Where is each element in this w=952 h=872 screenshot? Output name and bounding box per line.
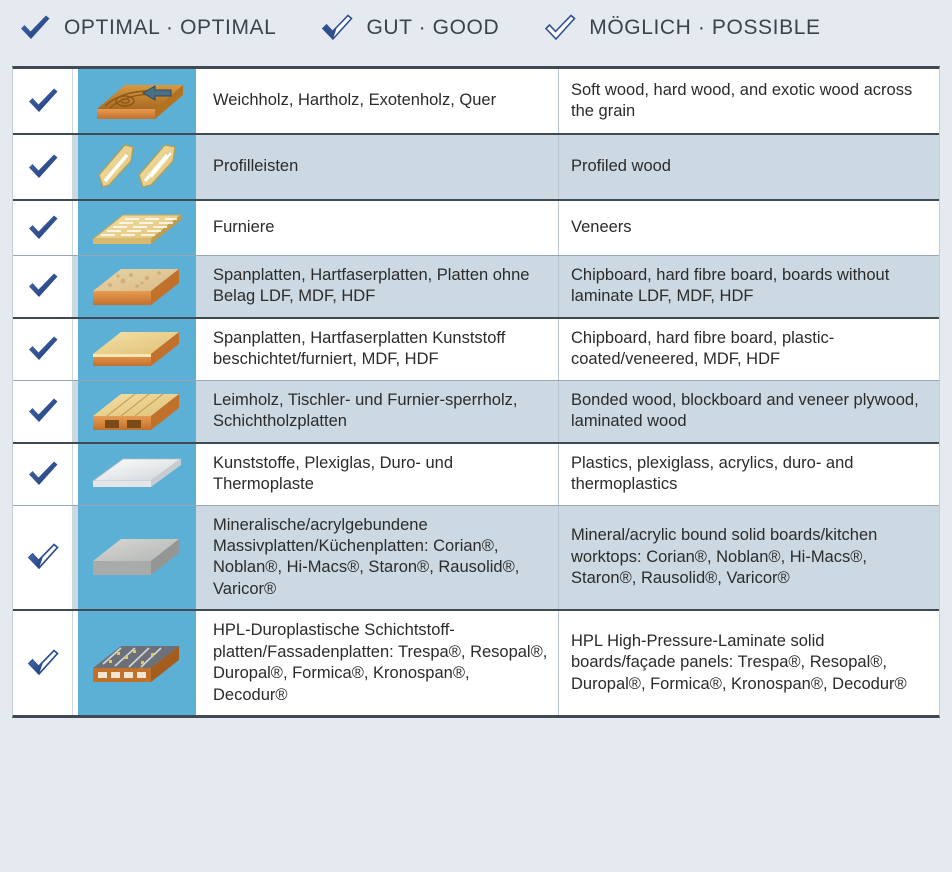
check-half-icon (26, 648, 60, 678)
table-row[interactable]: Spanplatten, Hartfaserplatten, Platten o… (13, 256, 939, 319)
legend-bar: OPTIMAL · OPTIMAL GUT · GOOD MÖGLICH · P… (0, 0, 952, 56)
check-half-icon (320, 13, 354, 43)
chipboard-coated-icon (85, 322, 189, 376)
material-name-de: Spanplatten, Hartfaserplatten Kunststoff… (201, 319, 559, 380)
table-row[interactable]: Mineralische/acrylgebundene Massivplatte… (13, 506, 939, 612)
material-name-de: Kunststoffe, Plexiglas, Duro- und Thermo… (201, 444, 559, 505)
material-compatibility-table-page: OPTIMAL · OPTIMAL GUT · GOOD MÖGLICH · P… (0, 0, 952, 872)
material-name-de: Weichholz, Hartholz, Exotenholz, Quer (201, 69, 559, 133)
wood-board-cross-grain-icon (85, 69, 189, 133)
mineral-solid-board-icon (85, 529, 189, 585)
check-filled-icon (26, 396, 60, 426)
material-name-en: HPL High-Pressure-Laminate solid boards/… (559, 611, 939, 715)
material-thumbnail-cell (73, 381, 201, 442)
material-name-de: Spanplatten, Hartfaserplatten, Platten o… (201, 256, 559, 317)
material-name-de: Leimholz, Tischler- und Furnier-sperrhol… (201, 381, 559, 442)
legend-label-possible: MÖGLICH · POSSIBLE (589, 16, 820, 40)
material-name-en: Profiled wood (559, 135, 939, 199)
legend-label-optimal: OPTIMAL · OPTIMAL (64, 16, 276, 40)
rating-cell (13, 506, 73, 610)
check-outline-icon (543, 13, 577, 43)
material-thumbnail-cell (73, 611, 201, 715)
material-thumbnail-cell (73, 201, 201, 255)
table-row[interactable]: HPL-Duroplastische Schichtstoff-platten/… (13, 611, 939, 715)
material-name-de: HPL-Duroplastische Schichtstoff-platten/… (201, 611, 559, 715)
legend-label-good: GUT · GOOD (366, 16, 499, 40)
table-row[interactable]: Spanplatten, Hartfaserplatten Kunststoff… (13, 319, 939, 381)
check-filled-icon (26, 213, 60, 243)
material-name-en: Chipboard, hard fibre board, boards with… (559, 256, 939, 317)
material-thumbnail-cell (73, 506, 201, 610)
profiled-mouldings-icon (85, 135, 189, 199)
material-name-en: Soft wood, hard wood, and exotic wood ac… (559, 69, 939, 133)
rating-cell (13, 381, 73, 442)
material-table: Weichholz, Hartholz, Exotenholz, Quer So… (12, 66, 940, 718)
rating-cell (13, 444, 73, 505)
check-filled-icon (26, 271, 60, 301)
plastic-sheet-icon (85, 449, 189, 499)
table-row[interactable]: Furniere Veneers (13, 201, 939, 256)
material-thumbnail-cell (73, 256, 201, 317)
material-thumbnail-cell (73, 444, 201, 505)
table-row[interactable]: Kunststoffe, Plexiglas, Duro- und Thermo… (13, 444, 939, 506)
rating-cell (13, 611, 73, 715)
check-half-icon (26, 542, 60, 572)
material-name-en: Plastics, plexiglass, acrylics, duro- an… (559, 444, 939, 505)
hpl-laminate-panel-icon (85, 634, 189, 692)
legend-item-good: GUT · GOOD (320, 13, 499, 43)
check-filled-icon (26, 459, 60, 489)
table-row[interactable]: Profilleisten Profiled wood (13, 135, 939, 201)
material-name-de: Mineralische/acrylgebundene Massivplatte… (201, 506, 559, 610)
material-name-en: Bonded wood, blockboard and veneer plywo… (559, 381, 939, 442)
rating-cell (13, 256, 73, 317)
legend-item-possible: MÖGLICH · POSSIBLE (543, 13, 820, 43)
material-name-de: Furniere (201, 201, 559, 255)
rating-cell (13, 135, 73, 199)
check-filled-icon (26, 334, 60, 364)
legend-item-optimal: OPTIMAL · OPTIMAL (18, 13, 276, 43)
material-thumbnail-cell (73, 319, 201, 380)
table-row[interactable]: Leimholz, Tischler- und Furnier-sperrhol… (13, 381, 939, 444)
check-filled-icon (18, 13, 52, 43)
check-filled-icon (26, 152, 60, 182)
rating-cell (13, 201, 73, 255)
chipboard-plain-icon (85, 257, 189, 315)
material-thumbnail-cell (73, 135, 201, 199)
material-name-en: Veneers (559, 201, 939, 255)
material-name-de: Profilleisten (201, 135, 559, 199)
rating-cell (13, 319, 73, 380)
blockboard-icon (85, 382, 189, 440)
table-row[interactable]: Weichholz, Hartholz, Exotenholz, Quer So… (13, 69, 939, 135)
material-thumbnail-cell (73, 69, 201, 133)
material-name-en: Mineral/acrylic bound solid boards/kitch… (559, 506, 939, 610)
rating-cell (13, 69, 73, 133)
material-name-en: Chipboard, hard fibre board, plastic-coa… (559, 319, 939, 380)
check-filled-icon (26, 86, 60, 116)
veneer-sheet-icon (85, 201, 189, 255)
